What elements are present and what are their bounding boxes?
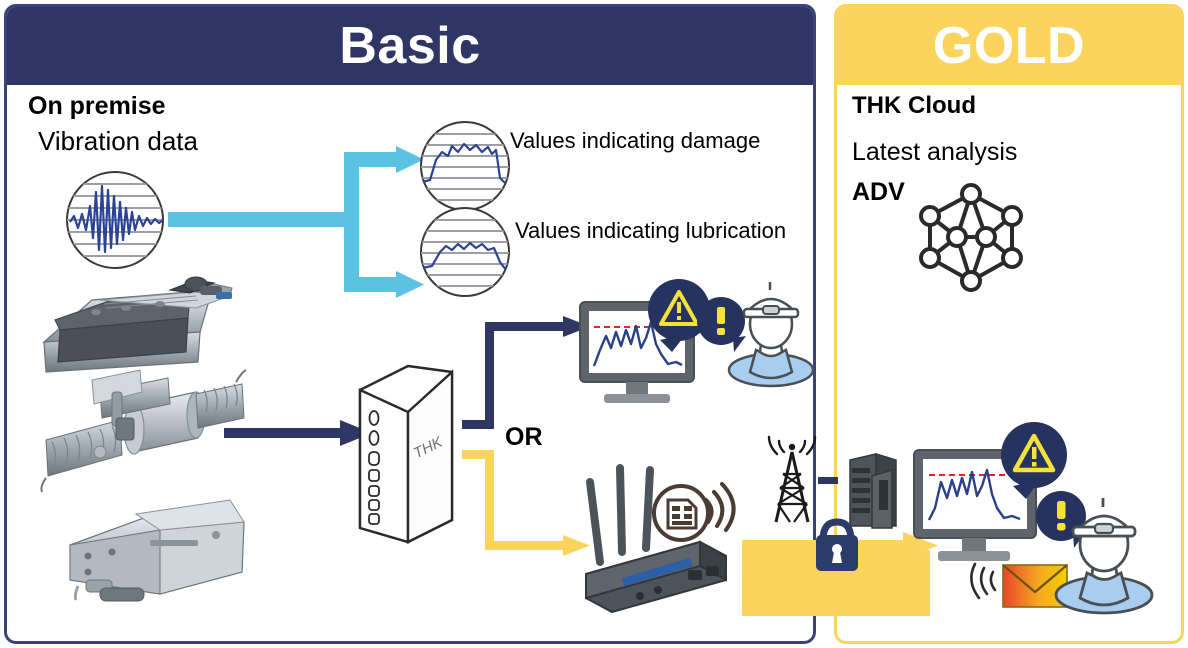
values-indicating-lubrication-label: Values indicating lubrication <box>515 218 786 244</box>
basic-panel-title: Basic <box>339 16 480 76</box>
values-indicating-damage-label: Values indicating damage <box>510 128 760 154</box>
on-premise-label: On premise <box>28 92 166 121</box>
vibration-data-label: Vibration data <box>38 126 198 157</box>
secure-transmission-line2: transmission <box>770 592 950 616</box>
or-label: OR <box>505 423 543 452</box>
gold-panel-title: GOLD <box>933 16 1085 76</box>
basic-panel-header: Basic <box>7 7 813 85</box>
thk-cloud-label: THK Cloud <box>852 92 976 120</box>
latest-analysis-label: Latest analysis <box>852 138 1017 167</box>
adv-label: ADV <box>852 178 905 207</box>
gold-panel-header: GOLD <box>837 7 1181 85</box>
secure-transmission-line1: Secure <box>790 564 930 588</box>
